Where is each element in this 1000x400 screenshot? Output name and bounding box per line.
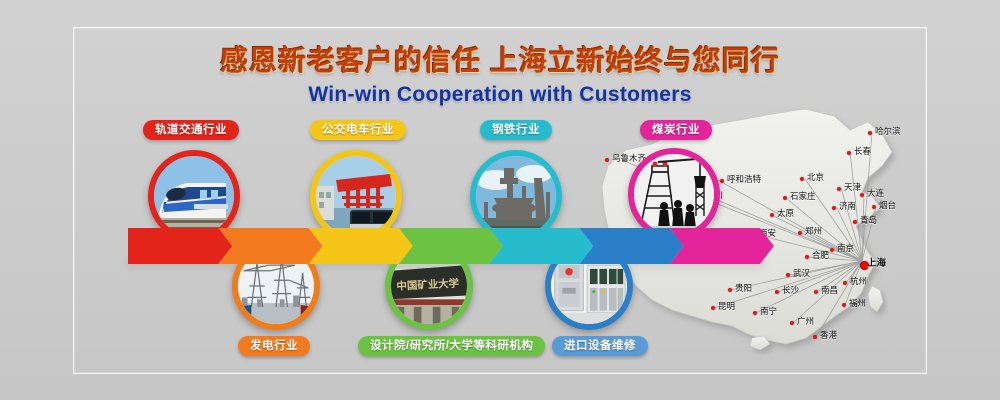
map-city-dot — [800, 177, 804, 181]
map-city-dot — [805, 255, 809, 259]
industry-image-bus — [316, 156, 396, 236]
map-city-label: 上海 — [867, 255, 886, 269]
industry-badge-steel[interactable]: 钢铁行业 — [480, 120, 552, 140]
map-city-dot — [837, 187, 841, 191]
map-city-label: 香港 — [820, 329, 837, 341]
map-city-dot — [770, 213, 774, 217]
map-city-label: 青岛 — [860, 214, 877, 226]
industry-image-rail — [154, 156, 234, 236]
industry-image-steel — [476, 156, 556, 236]
map-city-label: 南宁 — [760, 305, 777, 317]
map-city-label: 贵阳 — [735, 282, 752, 294]
map-city-label: 长春 — [854, 145, 871, 157]
map-city-dot — [832, 206, 836, 210]
map-city-label: 烟台 — [879, 199, 896, 211]
map-city-dot — [860, 193, 864, 197]
industry-circle-coal[interactable] — [628, 148, 720, 240]
map-city-label: 济南 — [839, 200, 856, 212]
ribbon-segment — [670, 228, 774, 264]
map-city-dot — [605, 158, 609, 162]
map-city-dot — [753, 311, 757, 315]
map-city-dot — [711, 306, 715, 310]
map-city-label: 南京 — [837, 242, 854, 254]
industry-badge-rail[interactable]: 轨道交通行业 — [143, 120, 239, 140]
map-city-dot — [813, 335, 817, 339]
map-city-dot — [720, 179, 724, 183]
map-city-label: 哈尔滨 — [875, 125, 901, 137]
industry-badge-equipment[interactable]: 进口设备维修 — [552, 336, 648, 356]
ribbon-segment — [579, 228, 683, 264]
map-city-dot — [868, 131, 872, 135]
map-city-dot — [783, 196, 787, 200]
city-bus-pavilion-icon — [316, 156, 396, 236]
high-speed-train-icon — [154, 156, 234, 236]
ribbon-segment — [128, 228, 232, 264]
map-city-label: 南昌 — [821, 284, 838, 296]
map-city-label: 福州 — [849, 297, 866, 309]
industry-badge-power[interactable]: 发电行业 — [238, 336, 310, 356]
map-city-dot — [847, 151, 851, 155]
map-city-dot — [798, 231, 802, 235]
map-city-label: 天津 — [844, 181, 861, 193]
map-city-dot — [814, 290, 818, 294]
map-city-dot — [843, 281, 847, 285]
map-city-dot — [790, 321, 794, 325]
map-city-dot — [786, 273, 790, 277]
map-city-dot — [830, 248, 834, 252]
headline-chinese: 感恩新老客户的信任 上海立新始终与您同行 — [0, 44, 1000, 78]
map-city-label: 昆明 — [718, 300, 735, 312]
map-city-label: 北京 — [807, 171, 824, 183]
map-city-dot — [842, 303, 846, 307]
ribbon-segment — [309, 228, 413, 264]
map-city-label: 武汉 — [793, 267, 810, 279]
map-city-label: 石家庄 — [790, 190, 816, 202]
map-city-label: 长沙 — [782, 284, 799, 296]
map-city-dot — [853, 220, 857, 224]
map-city-dot — [728, 288, 732, 292]
ribbon-segment — [218, 228, 322, 264]
map-city-label: 大连 — [867, 187, 884, 199]
steel-mill-furnace-icon — [476, 156, 556, 236]
ribbon-segment — [489, 228, 593, 264]
banner-stage: 感恩新老客户的信任 上海立新始终与您同行 Win-win Cooperation… — [0, 0, 1000, 400]
map-city-label: 广州 — [797, 315, 814, 327]
map-city-dot — [775, 290, 779, 294]
coal-mine-workers-icon — [634, 154, 714, 234]
industry-badge-coal[interactable]: 煤炭行业 — [640, 120, 712, 140]
map-city-label: 郑州 — [805, 225, 822, 237]
map-city-label: 太原 — [777, 207, 794, 219]
ribbon-segment — [399, 228, 503, 264]
map-city-label: 呼和浩特 — [727, 173, 761, 185]
map-city-dot — [872, 205, 876, 209]
industry-badge-bus[interactable]: 公交电车行业 — [310, 120, 406, 140]
map-city-label: 合肥 — [812, 249, 829, 261]
map-city-label: 杭州 — [850, 275, 867, 287]
industry-ribbon — [128, 228, 760, 264]
industry-image-coal — [634, 154, 714, 234]
industry-badge-research[interactable]: 设计院/研究所/大学等科研机构 — [358, 336, 545, 356]
